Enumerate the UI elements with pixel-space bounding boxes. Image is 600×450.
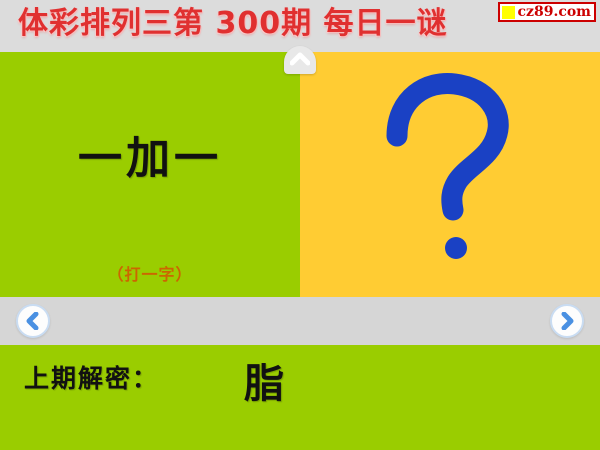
previous-answer-band: 上期解密： 脂	[0, 345, 600, 450]
previous-answer-label: 上期解密：	[24, 359, 159, 395]
previous-button[interactable]	[16, 304, 50, 338]
daily-riddle-page: 体彩排列三第 300期 每日一谜 cz89.com 一加一 （打一字）	[0, 0, 600, 450]
scroll-up-button[interactable]	[284, 46, 316, 74]
riddle-panel: 一加一 （打一字）	[0, 52, 300, 297]
chevron-up-icon	[290, 52, 310, 66]
navigation-bar	[0, 297, 600, 345]
next-button[interactable]	[550, 304, 584, 338]
logo-swatch-icon	[502, 6, 515, 19]
question-mark-icon	[375, 70, 525, 270]
site-logo[interactable]: cz89.com	[498, 2, 596, 22]
previous-answer-value: 脂	[244, 351, 284, 409]
logo-text: cz89.com	[517, 5, 591, 19]
answer-placeholder-panel	[300, 52, 600, 297]
question-mark-wrap	[300, 52, 600, 297]
chevron-right-icon	[560, 312, 574, 330]
page-header: 体彩排列三第 300期 每日一谜 cz89.com	[0, 0, 600, 50]
chevron-left-icon	[26, 312, 40, 330]
page-title: 体彩排列三第 300期 每日一谜	[18, 1, 518, 49]
riddle-hint: （打一字）	[0, 261, 300, 285]
riddle-panels: 一加一 （打一字）	[0, 52, 600, 297]
riddle-text: 一加一	[0, 122, 300, 186]
